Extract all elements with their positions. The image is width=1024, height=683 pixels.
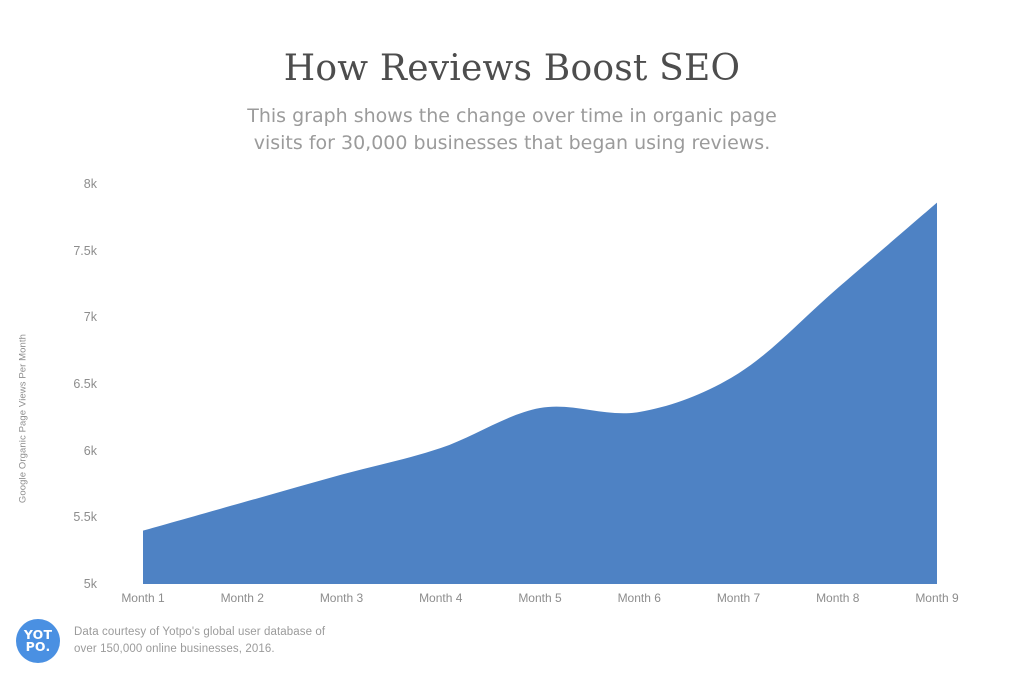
page-title: How Reviews Boost SEO (0, 0, 1024, 89)
data-source-credit: Data courtesy of Yotpo's global user dat… (74, 624, 325, 657)
chart-plot-area: Google Organic Page Views Per Month 5k5.… (0, 170, 1024, 620)
x-tick-label: Month 9 (882, 591, 992, 605)
area-chart-svg (0, 170, 1024, 620)
x-tick-label: Month 5 (485, 591, 595, 605)
x-tick-label: Month 6 (584, 591, 694, 605)
x-tick-label: Month 4 (386, 591, 496, 605)
yotpo-logo-icon: YOT PO. (16, 619, 60, 663)
chart-subtitle: This graph shows the change over time in… (0, 89, 1024, 157)
subtitle-line-1: This graph shows the change over time in… (0, 103, 1024, 130)
credit-line-2: over 150,000 online businesses, 2016. (74, 641, 325, 658)
subtitle-line-2: visits for 30,000 businesses that began … (0, 130, 1024, 157)
x-tick-label: Month 3 (287, 591, 397, 605)
logo-line-2: PO. (26, 641, 51, 653)
x-tick-label: Month 7 (684, 591, 794, 605)
x-tick-label: Month 2 (187, 591, 297, 605)
chart-header: How Reviews Boost SEO This graph shows t… (0, 0, 1024, 157)
credit-line-1: Data courtesy of Yotpo's global user dat… (74, 624, 325, 641)
area-series-path (143, 203, 937, 584)
x-tick-label: Month 1 (88, 591, 198, 605)
chart-footer: YOT PO. Data courtesy of Yotpo's global … (0, 615, 1024, 683)
x-tick-label: Month 8 (783, 591, 893, 605)
